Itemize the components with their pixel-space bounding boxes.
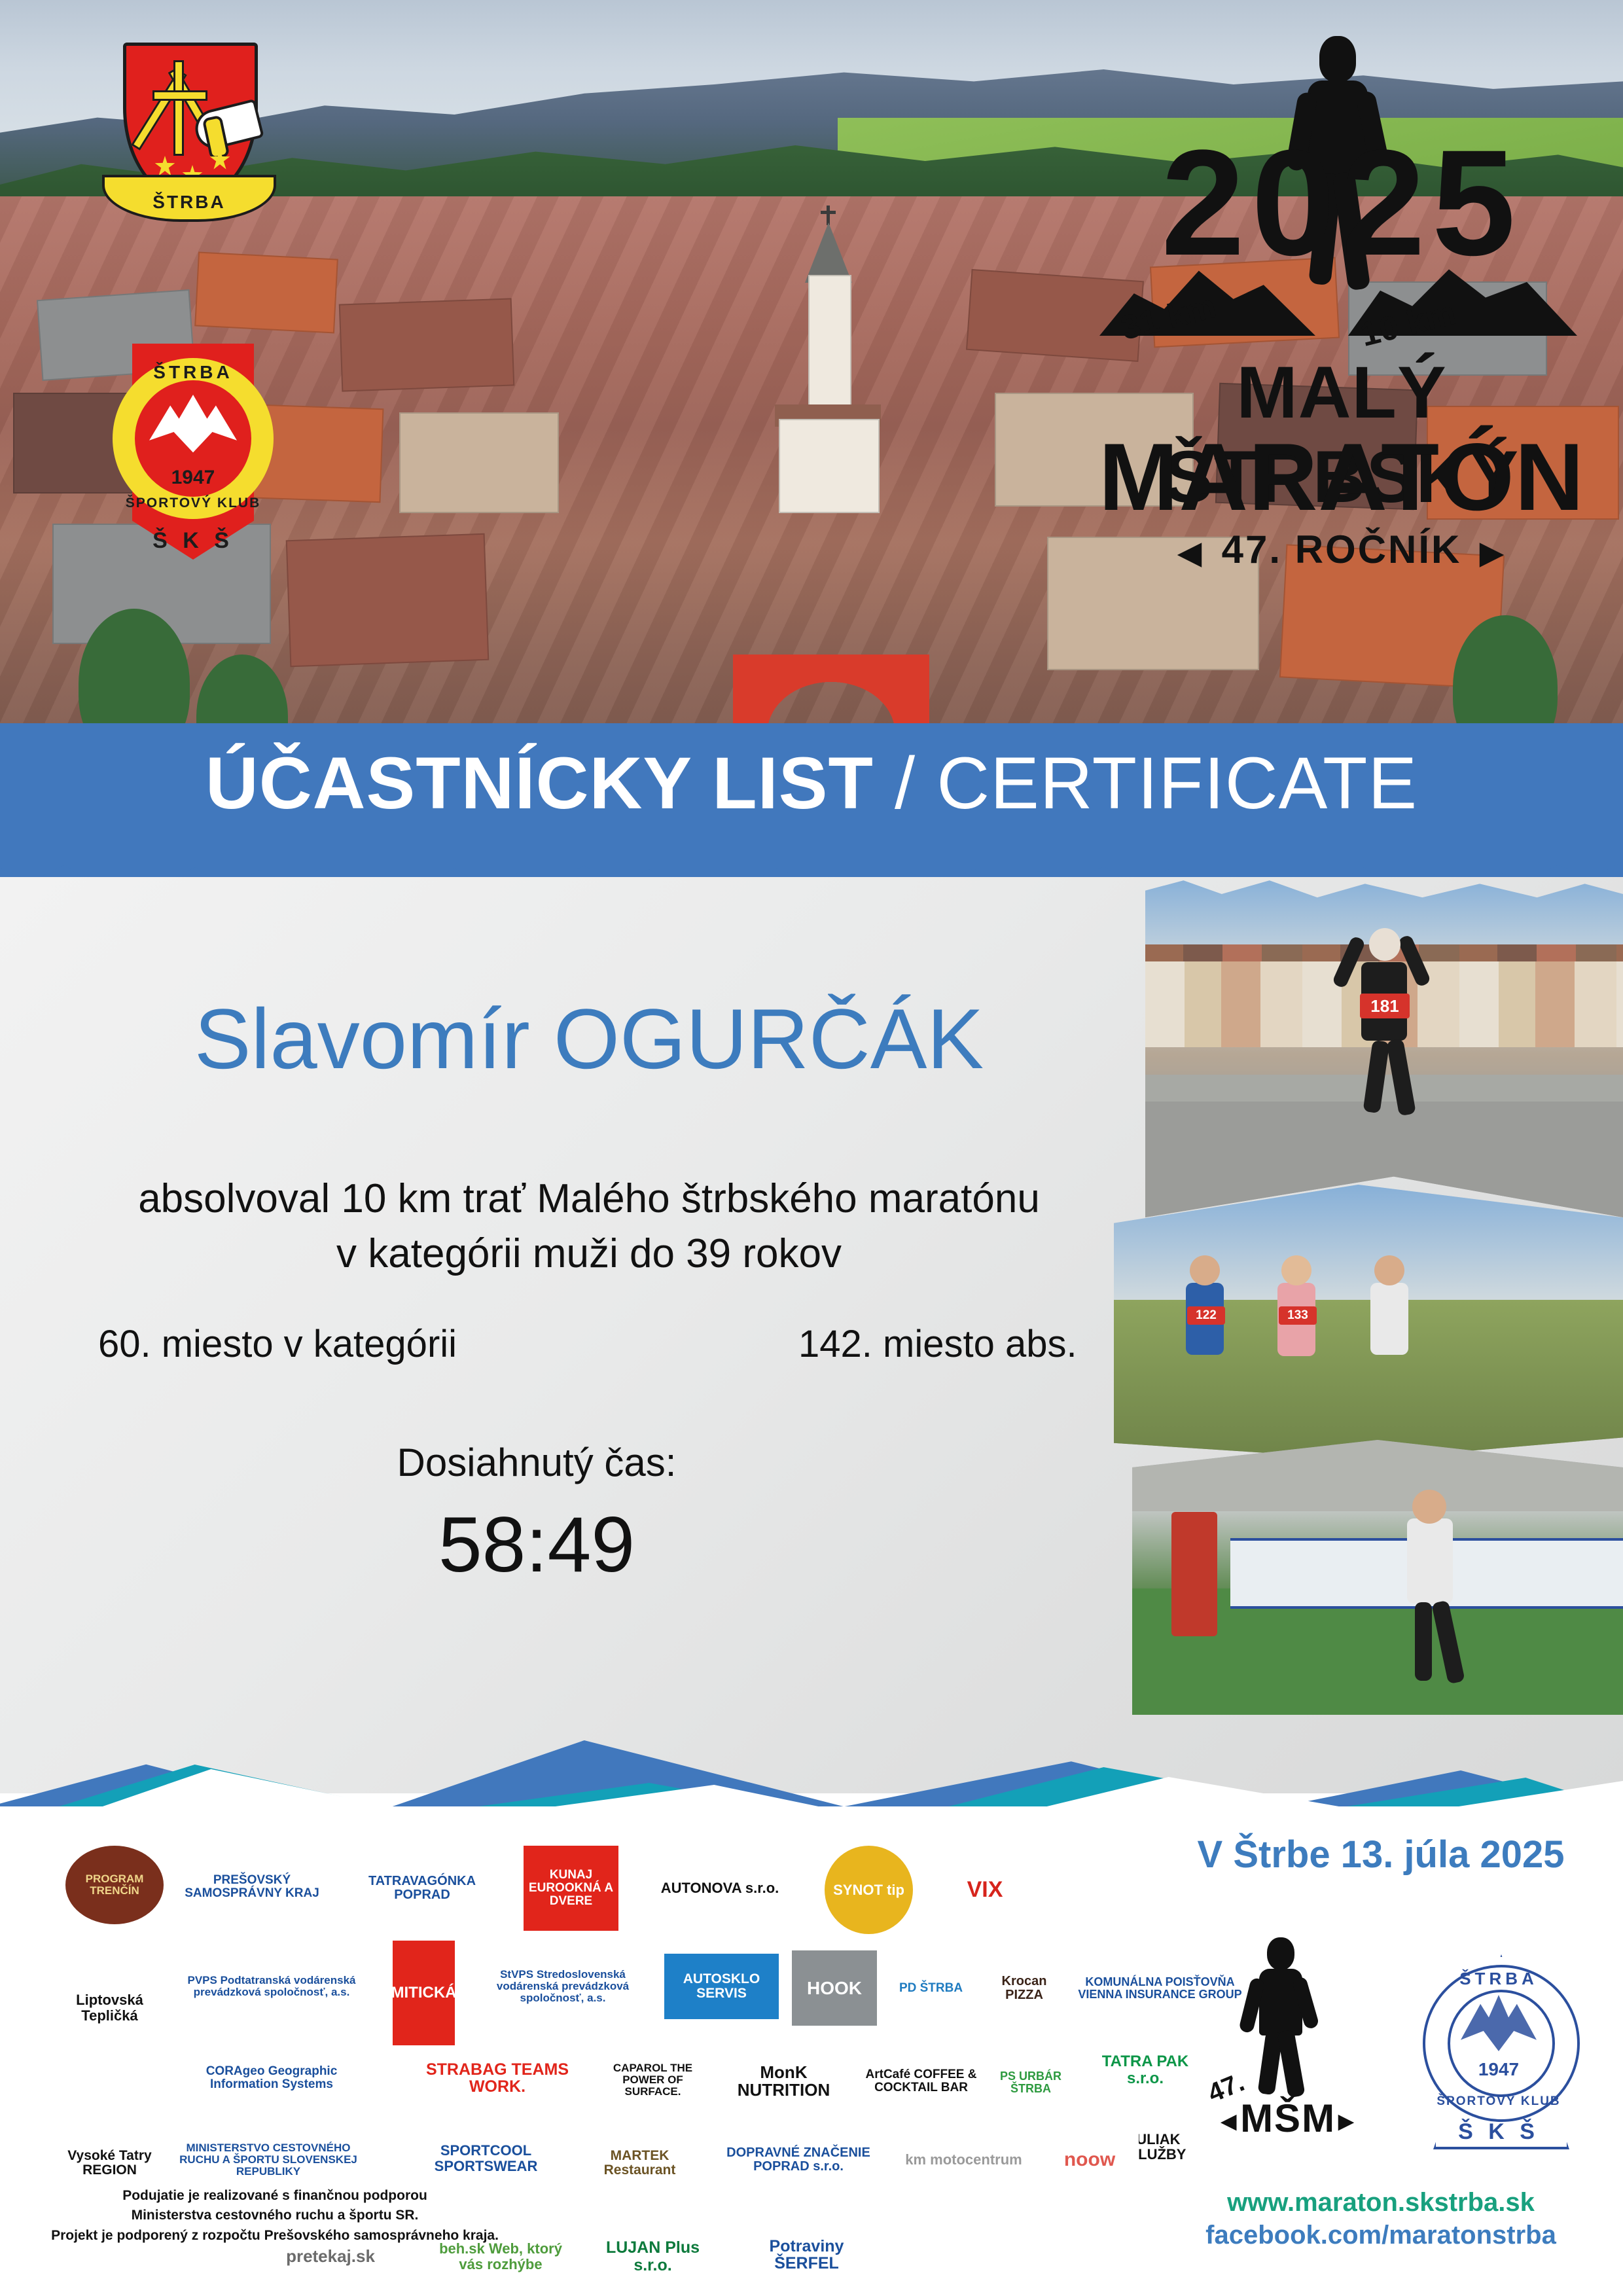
title-separator: / — [874, 742, 936, 824]
sponsor-logo: AUTOSKLO SERVIS — [664, 1954, 779, 2019]
sponsor-name-label: noow — [1064, 2149, 1115, 2170]
place-absolute: 142. miesto abs. — [798, 1322, 1077, 1366]
sponsor-logo: Potraviny ŠERFEL — [736, 2222, 877, 2287]
funding-note-line-2: Ministerstva cestovného ruchu a športu S… — [39, 2206, 510, 2225]
sponsor-name-label: beh.sk Web, ktorý vás rozhýbe — [432, 2241, 569, 2271]
sponsor-logo: TATRAVAGÓNKA POPRAD — [347, 1856, 497, 1921]
website-link[interactable]: www.maraton.skstrba.sk — [1152, 2186, 1610, 2219]
sponsor-logo: Krocan PIZZA — [982, 1947, 1067, 2029]
funding-note: Podujatie je realizované s finančnou pod… — [39, 2186, 510, 2246]
sponsor-logo: PS URBÁR ŠTRBA — [991, 2037, 1070, 2128]
sponsor-name-label: ArtCafé COFFEE & COCKTAIL BAR — [864, 2068, 978, 2094]
sponsor-logo: CAPAROL THE POWER OF SURFACE. — [599, 2041, 707, 2119]
sponsor-name-label: StVPS Stredoslovenská vodárenská prevádz… — [471, 1969, 654, 2004]
sponsor-name-label: AUTONOVA s.r.o. — [661, 1880, 779, 1895]
sponsor-name-label: PVPS Podtatranská vodárenská prevádzková… — [173, 1975, 370, 1998]
sponsor-name-label: Krocan PIZZA — [982, 1975, 1067, 2002]
sponsor-logo: HOOK — [792, 1950, 877, 2026]
sponsor-name-label: STRABAG TEAMS WORK. — [422, 2061, 573, 2096]
sponsor-name-label: MonK NUTRITION — [720, 2064, 847, 2100]
sponsor-name-label: TATRA PAK s.r.o. — [1083, 2053, 1207, 2086]
contact-links: www.maraton.skstrba.sk facebook.com/mara… — [1152, 2186, 1610, 2251]
marathon-logo: 2025 31 km 10 km MALÝ ŠTRBSKÝ MARATÓN 47… — [1073, 29, 1610, 619]
sponsor-logo: KUNAJ EUROOKNÁ A DVERE — [524, 1846, 618, 1931]
crest-name-label: ŠTRBA — [105, 192, 274, 213]
crest-ribbon: ŠTRBA — [102, 175, 276, 222]
sponsor-logo: MonK NUTRITION — [720, 2049, 847, 2114]
sponsor-logo: PVPS Podtatranská vodárenská prevádzková… — [173, 1947, 370, 2026]
place-category: 60. miesto v kategórii — [98, 1322, 457, 1366]
sponsor-name-label: CORAgeo Geographic Information Systems — [173, 2065, 370, 2091]
emblem-year-label: 1947 — [135, 467, 251, 489]
sponsor-logo: MITICKÁ — [393, 1941, 455, 2045]
sponsor-name-label: PS URBÁR ŠTRBA — [991, 2070, 1070, 2095]
sks-bottom-label: ŠPORTOVÝ KLUB — [1423, 2094, 1575, 2109]
sponsor-logo: TATRA PAK s.r.o. — [1083, 2039, 1207, 2101]
start-arch — [733, 655, 929, 733]
sponsor-logo: AUTONOVA s.r.o. — [638, 1849, 802, 1928]
hero-photo-banner: ŠTRBA ŠTRBA 1947 ŠPORTOVÝ KLUB Š K Š 202… — [0, 0, 1623, 772]
municipality-crest: ŠTRBA — [105, 29, 268, 239]
sponsor-name-label: SYNOT tip — [833, 1882, 904, 1897]
photo-finish-female-runner: 181 — [1145, 877, 1623, 1217]
sponsor-name-label: SPORTCOOL SPORTSWEAR — [412, 2143, 560, 2173]
funding-note-line-3: Projekt je podporený z rozpočtu Prešovsk… — [39, 2226, 510, 2246]
sponsor-name-label: KUNAJ EUROOKNÁ A DVERE — [524, 1869, 618, 1908]
sponsor-name-label: HOOK — [807, 1979, 862, 1998]
description-line-1: absolvoval 10 km trať Malého štrbského m… — [59, 1172, 1119, 1227]
sponsor-logo: StVPS Stredoslovenská vodárenská prevádz… — [471, 1944, 654, 2029]
sponsor-logo: Liptovská Tepličká — [59, 1947, 160, 2068]
sponsor-logo: LUJAN Plus s.r.o. — [596, 2222, 710, 2291]
sks-year-label: 1947 — [1448, 2059, 1550, 2080]
sponsor-logo: VIX — [936, 1846, 1034, 1934]
bib-number-secondary-a: 122 — [1187, 1306, 1225, 1325]
participant-name: Slavomír OGURČÁK — [79, 996, 1099, 1081]
sponsor-logo: km motocentrum — [903, 2124, 1024, 2196]
logo-year: 2025 — [1073, 128, 1610, 278]
funding-note-line-1: Podujatie je realizované s finančnou pod… — [39, 2186, 510, 2206]
sponsor-logo: PROGRAM TRENČÍN — [65, 1846, 164, 1924]
sponsor-name-label: pretekaj.sk — [286, 2248, 375, 2265]
photo-group-runners-hill: 122 133 — [1114, 1185, 1623, 1460]
sponsor-name-label: VIX — [967, 1878, 1003, 1902]
sponsor-logo: SPORTCOOL SPORTSWEAR — [412, 2127, 560, 2189]
msm-runner-icon — [1245, 1937, 1317, 2088]
sponsor-name-label: PD ŠTRBA — [899, 1982, 963, 1995]
sponsor-logo: DOPRAVNÉ ZNAČENIE POPRAD s.r.o. — [707, 2130, 890, 2189]
msm-logo: 47. MŠM — [1204, 1931, 1355, 2147]
emblem-abbr-label: Š K Š — [132, 528, 254, 554]
sponsor-logo: STRABAG TEAMS WORK. — [422, 2045, 573, 2111]
sponsor-logo: PREŠOVSKÝ SAMOSPRÁVNY KRAJ — [177, 1852, 327, 1921]
sponsor-name-label: Liptovská Tepličká — [59, 1992, 160, 2022]
logo-line2: MARATÓN — [1073, 422, 1610, 532]
emblem-bottom-label: ŠPORTOVÝ KLUB — [113, 495, 274, 511]
facebook-link[interactable]: facebook.com/maratonstrba — [1152, 2219, 1610, 2251]
sponsor-logo: PD ŠTRBA — [890, 1947, 972, 2029]
sponsor-name-label: MINISTERSTVO CESTOVNÉHO RUCHU A ŠPORTU S… — [170, 2142, 366, 2178]
sponsor-name-label: CAPAROL THE POWER OF SURFACE. — [599, 2062, 707, 2098]
sponsor-name-label: TATRAVAGÓNKA POPRAD — [347, 1874, 497, 1902]
sponsor-name-label: PREŠOVSKÝ SAMOSPRÁVNY KRAJ — [177, 1874, 327, 1900]
event-date: V Štrbe 13. júla 2025 — [1165, 1833, 1597, 1876]
sks-footer-logo: ŠTRBA 1947 ŠPORTOVÝ KLUB Š K Š — [1407, 1931, 1590, 2153]
sponsor-name-label: km motocentrum — [905, 2152, 1022, 2167]
sks-top-label: ŠTRBA — [1423, 1969, 1575, 1989]
sponsor-logo: MARTEK Restaurant — [582, 2121, 697, 2206]
description-line-2: v kategórii muži do 39 rokov — [59, 1227, 1119, 1282]
bib-number: 181 — [1360, 994, 1410, 1018]
church — [779, 223, 877, 504]
emblem-top-label: ŠTRBA — [113, 362, 274, 383]
bib-number-secondary-b: 133 — [1279, 1306, 1317, 1325]
sponsor-logo: CORAgeo Geographic Information Systems — [173, 2042, 370, 2114]
sponsor-logo: SYNOT tip — [825, 1846, 913, 1934]
photo-collage: 181 122 133 — [1106, 877, 1623, 1715]
sponsor-logo: ArtCafé COFFEE & COCKTAIL BAR — [864, 2039, 978, 2124]
sponsor-name-label: Potraviny ŠERFEL — [736, 2238, 877, 2272]
sponsor-name-label: MITICKÁ — [391, 1984, 457, 2001]
msm-abbr-label: MŠM — [1221, 2096, 1355, 2141]
certificate-page: ŠTRBA ŠTRBA 1947 ŠPORTOVÝ KLUB Š K Š 202… — [0, 0, 1623, 2296]
time-label: Dosiahnutý čas: — [59, 1440, 1014, 1485]
logo-edition: 47. ROČNÍK — [1073, 527, 1610, 572]
sponsor-name-label: LUJAN Plus s.r.o. — [596, 2239, 710, 2274]
sponsor-name-label: AUTOSKLO SERVIS — [664, 1972, 779, 2001]
sks-abbr-label: Š K Š — [1433, 2119, 1564, 2145]
sponsor-logo: noow — [1041, 2127, 1139, 2193]
sponsor-name-label: PROGRAM TRENČÍN — [65, 1873, 164, 1897]
sponsor-name-label: MARTEK Restaurant — [582, 2149, 697, 2178]
sponsor-name-label: DOPRAVNÉ ZNAČENIE POPRAD s.r.o. — [707, 2146, 890, 2174]
title-secondary: CERTIFICATE — [936, 742, 1418, 824]
sports-club-emblem: ŠTRBA 1947 ŠPORTOVÝ KLUB Š K Š — [98, 324, 288, 573]
certificate-description: absolvoval 10 km trať Malého štrbského m… — [59, 1172, 1119, 1281]
sponsor-name-label: Vysoké Tatry REGION — [56, 2149, 164, 2178]
time-value: 58:49 — [59, 1505, 1014, 1584]
title-primary: ÚČASTNÍCKY LIST — [205, 742, 874, 824]
